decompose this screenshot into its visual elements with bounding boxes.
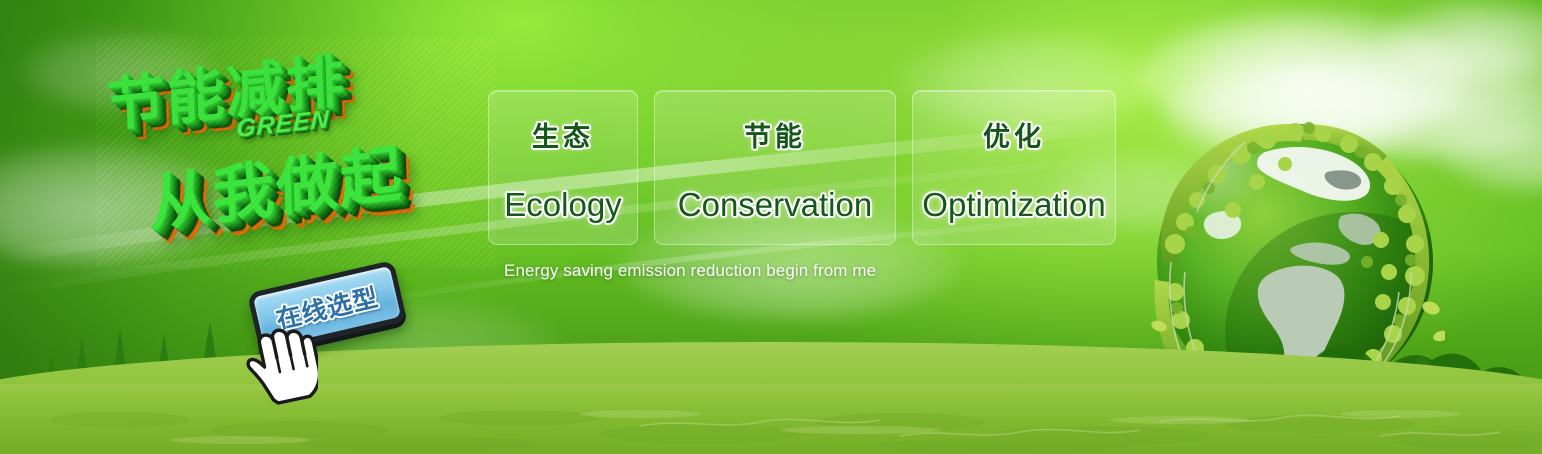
headline-line-2: 从我做起 xyxy=(147,122,404,243)
feature-card-en-label: Ecology xyxy=(504,186,621,224)
feature-card-ecology[interactable]: 生态 Ecology xyxy=(488,90,638,245)
feature-card-cn-label: 节能 xyxy=(744,115,806,154)
feature-cards: 生态 Ecology 节能 Conservation 优化 Optimizati… xyxy=(488,90,1116,245)
feature-card-en-label: Optimization xyxy=(922,186,1105,224)
feature-card-en-label: Conservation xyxy=(678,186,872,224)
grass-texture xyxy=(0,374,1542,454)
green-banner: 节能减排 GREEN 从我做起 在线选型 生态 Ecology 节能 Conse… xyxy=(0,0,1542,454)
pointing-hand-cursor-icon xyxy=(240,320,318,406)
headline-3d: 节能减排 GREEN 从我做起 xyxy=(96,38,496,268)
feature-card-cn-label: 生态 xyxy=(532,115,594,154)
feature-card-conservation[interactable]: 节能 Conservation xyxy=(654,90,896,245)
feature-card-optimization[interactable]: 优化 Optimization xyxy=(912,90,1116,245)
tagline: Energy saving emission reduction begin f… xyxy=(504,261,876,281)
online-selection-cta[interactable]: 在线选型 xyxy=(252,272,427,382)
feature-card-cn-label: 优化 xyxy=(983,115,1045,154)
